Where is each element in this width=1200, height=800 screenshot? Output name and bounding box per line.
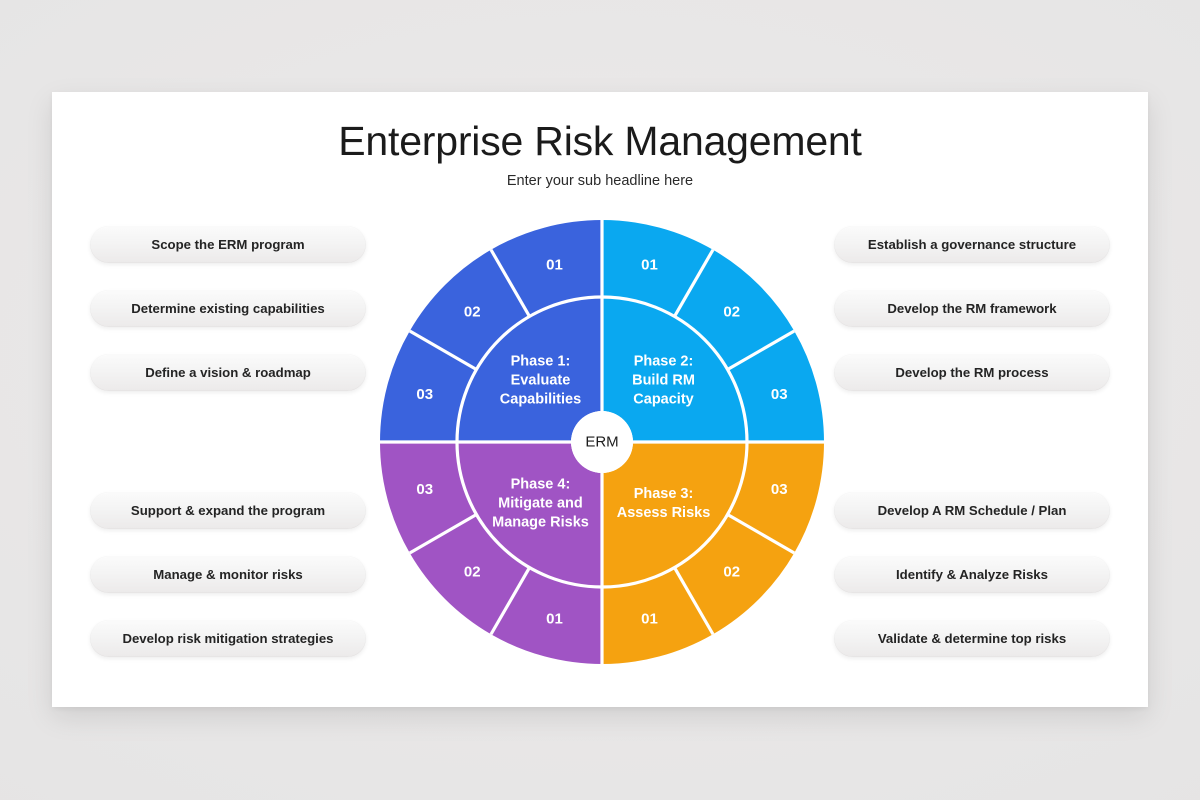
page-title: Enterprise Risk Management bbox=[52, 118, 1148, 165]
segment-number-phase4-02: 02 bbox=[464, 563, 481, 580]
wheel-svg: 010203Phase 1:EvaluateCapabilities010203… bbox=[378, 218, 826, 666]
label-right-3[interactable]: Develop the RM process bbox=[834, 354, 1110, 391]
phase-title-phase1: Capabilities bbox=[500, 391, 581, 407]
segment-number-phase4-03: 03 bbox=[416, 481, 433, 498]
label-left-3[interactable]: Define a vision & roadmap bbox=[90, 354, 366, 391]
segment-number-phase1-02: 02 bbox=[464, 304, 481, 321]
phase-title-phase3: Assess Risks bbox=[617, 505, 711, 521]
segment-number-phase2-01: 01 bbox=[641, 256, 658, 273]
page-subtitle: Enter your sub headline here bbox=[52, 173, 1148, 189]
segment-number-phase4-01: 01 bbox=[546, 611, 563, 628]
slide-canvas: Enterprise Risk Management Enter your su… bbox=[0, 0, 1200, 800]
segment-number-phase1-03: 03 bbox=[416, 386, 433, 403]
label-left-5[interactable]: Manage & monitor risks bbox=[90, 556, 366, 593]
phase-title-phase2: Capacity bbox=[633, 391, 693, 407]
segment-number-phase3-01: 01 bbox=[641, 611, 658, 628]
phase-title-phase3: Phase 3: bbox=[634, 486, 694, 502]
label-right-2[interactable]: Develop the RM framework bbox=[834, 290, 1110, 327]
label-right-6[interactable]: Validate & determine top risks bbox=[834, 620, 1110, 657]
slide-card: Enterprise Risk Management Enter your su… bbox=[52, 92, 1148, 707]
segment-number-phase3-03: 03 bbox=[771, 481, 788, 498]
label-right-4[interactable]: Develop A RM Schedule / Plan bbox=[834, 492, 1110, 529]
phase-title-phase2: Build RM bbox=[632, 372, 695, 388]
phase-title-phase2: Phase 2: bbox=[634, 353, 694, 369]
segment-number-phase1-01: 01 bbox=[546, 256, 563, 273]
label-left-2[interactable]: Determine existing capabilities bbox=[90, 290, 366, 327]
erm-wheel-diagram: 010203Phase 1:EvaluateCapabilities010203… bbox=[378, 218, 826, 666]
segment-number-phase3-02: 02 bbox=[723, 563, 740, 580]
label-left-6[interactable]: Develop risk mitigation strategies bbox=[90, 620, 366, 657]
segment-number-phase2-02: 02 bbox=[723, 304, 740, 321]
phase-title-phase4: Manage Risks bbox=[492, 515, 589, 531]
label-right-5[interactable]: Identify & Analyze Risks bbox=[834, 556, 1110, 593]
phase-title-phase4: Phase 4: bbox=[511, 477, 571, 493]
phase-title-phase1: Evaluate bbox=[511, 372, 571, 388]
phase-title-phase4: Mitigate and bbox=[498, 496, 583, 512]
label-left-4[interactable]: Support & expand the program bbox=[90, 492, 366, 529]
label-right-1[interactable]: Establish a governance structure bbox=[834, 226, 1110, 263]
phase-title-phase1: Phase 1: bbox=[511, 353, 571, 369]
segment-number-phase2-03: 03 bbox=[771, 386, 788, 403]
label-left-1[interactable]: Scope the ERM program bbox=[90, 226, 366, 263]
hub-label: ERM bbox=[585, 434, 618, 451]
